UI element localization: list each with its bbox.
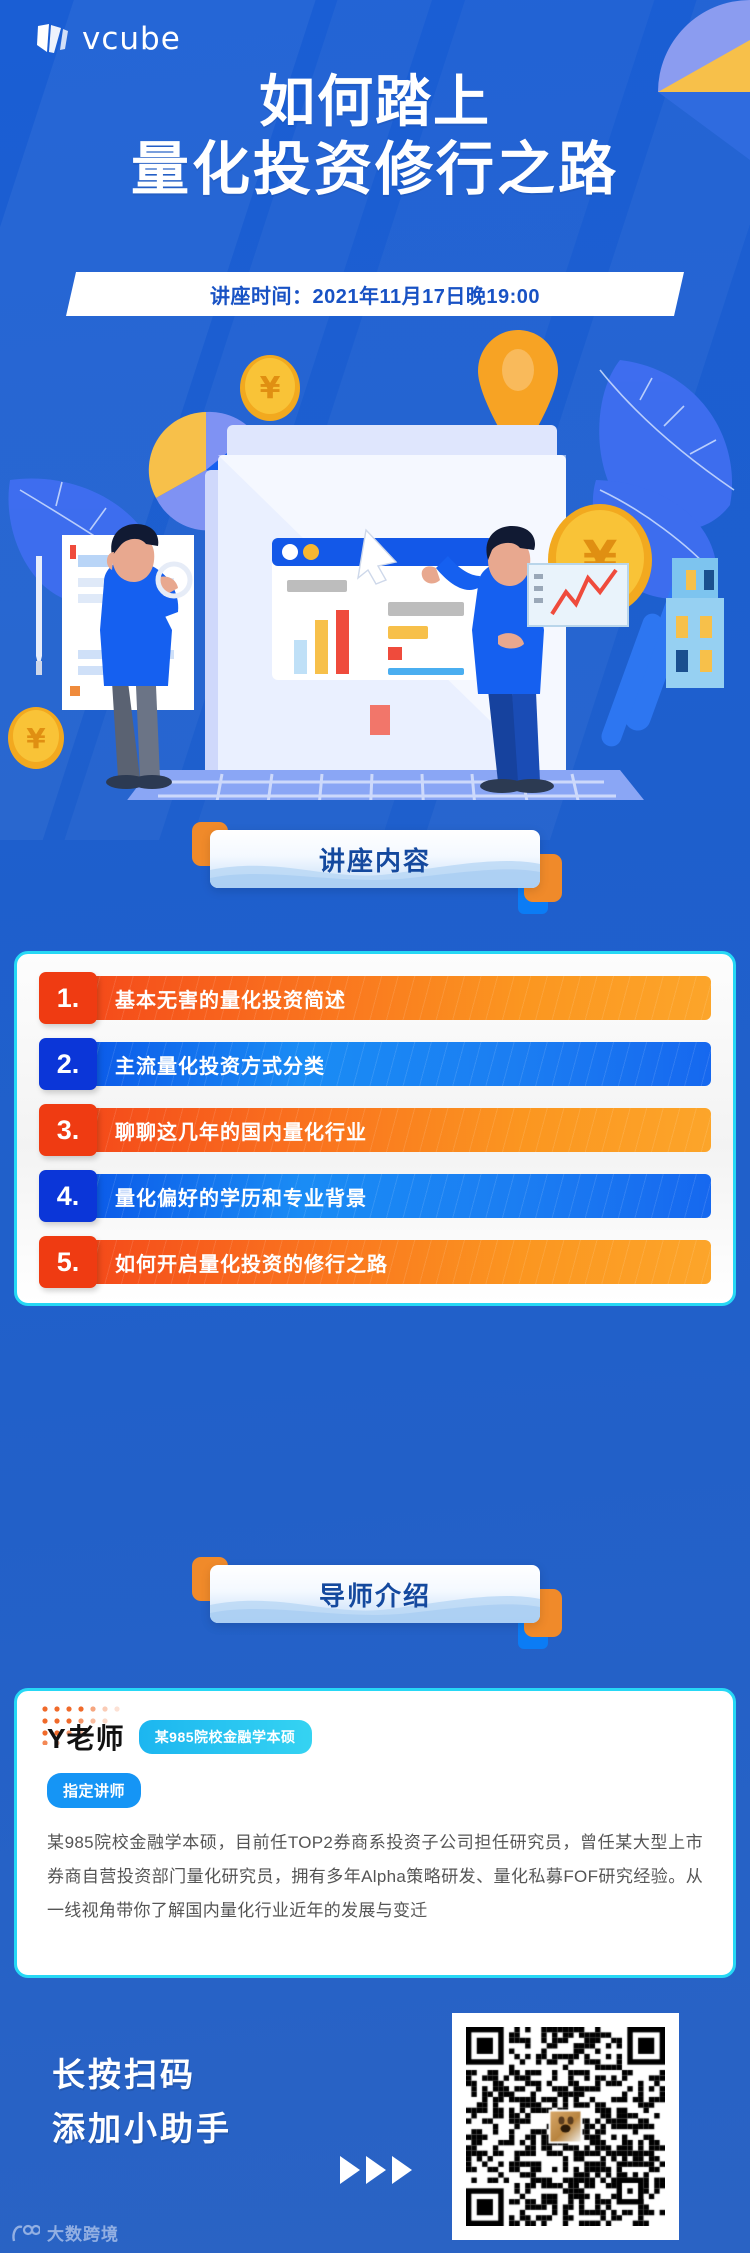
- agenda-list-card: 基本无害的量化投资简述 1. 主流量化投资方式分类 2. 聊聊这几年的国内量化行…: [14, 951, 736, 1306]
- footer-cta-text: 长按扫码 添加小助手: [52, 2048, 232, 2157]
- agenda-item[interactable]: 如何开启量化投资的修行之路 5.: [39, 1236, 711, 1288]
- footer-cta-section: 长按扫码 添加小助手 大数跨境: [0, 1990, 750, 2253]
- agenda-heading-label: 讲座内容: [319, 841, 431, 878]
- mentor-role-badge: 指定讲师: [47, 1773, 141, 1808]
- quant-investment-illustration: ¥ ¥ ¥: [0, 330, 750, 800]
- brand-logo-text: vcube: [82, 24, 181, 55]
- agenda-item[interactable]: 聊聊这几年的国内量化行业 3.: [39, 1104, 711, 1156]
- agenda-item-number: 3.: [39, 1104, 97, 1156]
- agenda-item-label: 量化偏好的学历和专业背景: [115, 1182, 367, 1211]
- lecture-time-text: 讲座时间：2021年11月17日晚19:00: [210, 280, 540, 309]
- svg-text:¥: ¥: [260, 371, 281, 406]
- agenda-item-label: 如何开启量化投资的修行之路: [115, 1248, 388, 1277]
- agenda-item-number: 4.: [39, 1170, 97, 1222]
- agenda-item[interactable]: 量化偏好的学历和专业背景 4.: [39, 1170, 711, 1222]
- watermark-text: 大数跨境: [47, 2220, 119, 2245]
- wechat-qr-code[interactable]: [452, 2013, 679, 2240]
- page-title-line1: 如何踏上: [0, 70, 750, 136]
- lecture-time-banner: 讲座时间：2021年11月17日晚19:00: [66, 272, 684, 316]
- watermark-icon: [10, 2223, 40, 2243]
- agenda-section-heading: 讲座内容: [210, 830, 540, 888]
- footer-cta-line2: 添加小助手: [52, 2102, 232, 2156]
- agenda-item[interactable]: 主流量化投资方式分类 2.: [39, 1038, 711, 1090]
- mentor-profile-card: Y老师 某985院校金融学本硕 指定讲师 某985院校金融学本硕，目前任TOP2…: [14, 1688, 736, 1978]
- mentor-section-heading: 导师介绍: [210, 1565, 540, 1623]
- mentor-credential-tag: 某985院校金融学本硕: [139, 1720, 312, 1754]
- agenda-item-number: 2.: [39, 1038, 97, 1090]
- mentor-name: Y老师: [47, 1717, 125, 1757]
- page-title-line2: 量化投资修行之路: [0, 136, 750, 204]
- agenda-item-number: 1.: [39, 972, 97, 1024]
- agenda-item[interactable]: 基本无害的量化投资简述 1.: [39, 972, 711, 1024]
- agenda-item-number: 5.: [39, 1236, 97, 1288]
- site-watermark: 大数跨境: [10, 2220, 119, 2245]
- mentor-heading-label: 导师介绍: [319, 1576, 431, 1613]
- page-title: 如何踏上 量化投资修行之路: [0, 70, 750, 203]
- agenda-item-label: 基本无害的量化投资简述: [115, 984, 346, 1013]
- brand-logo[interactable]: vcube: [36, 22, 181, 56]
- agenda-item-label: 主流量化投资方式分类: [115, 1050, 325, 1079]
- vcube-logo-icon: [36, 22, 70, 56]
- triple-arrow-right-icon: [340, 2156, 412, 2184]
- svg-text:¥: ¥: [26, 722, 46, 755]
- mentor-bio-text: 某985院校金融学本硕，目前任TOP2券商系投资子公司担任研究员，曾任某大型上市…: [47, 1826, 703, 1928]
- agenda-item-label: 聊聊这几年的国内量化行业: [115, 1116, 367, 1145]
- footer-cta-line1: 长按扫码: [52, 2048, 232, 2102]
